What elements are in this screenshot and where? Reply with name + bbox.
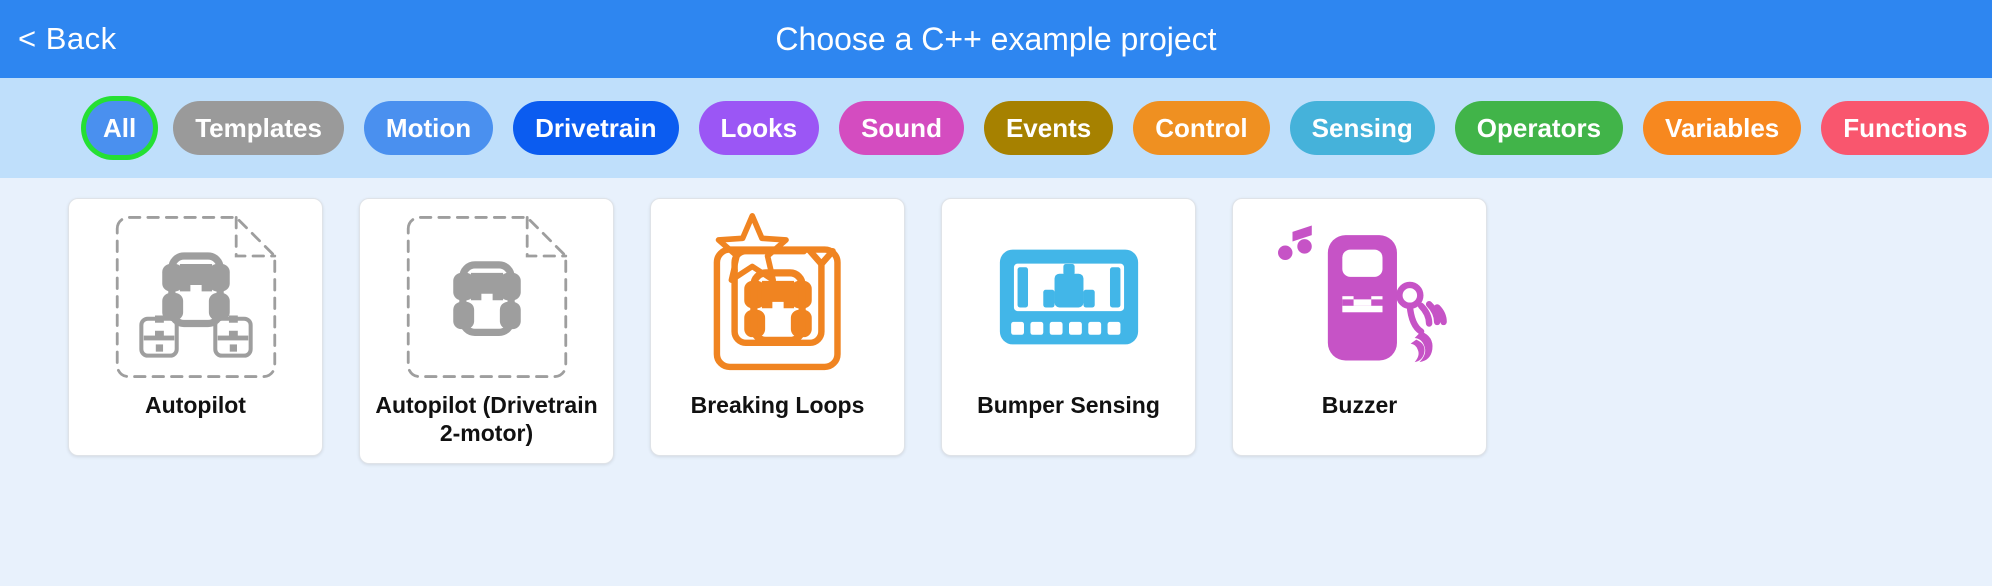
bumper-sensor-icon	[953, 211, 1185, 383]
category-pill-operators[interactable]: Operators	[1455, 101, 1623, 155]
category-pill-sound[interactable]: Sound	[839, 101, 964, 155]
category-pill-drivetrain[interactable]: Drivetrain	[513, 101, 678, 155]
buzzer-icon	[1244, 211, 1476, 383]
robot-two-bumpers-icon	[80, 211, 312, 383]
category-pill-motion[interactable]: Motion	[364, 101, 493, 155]
category-pill-sensing[interactable]: Sensing	[1290, 101, 1435, 155]
loop-star-icon	[662, 211, 894, 383]
project-card[interactable]: Buzzer	[1232, 198, 1487, 456]
app-header: < Back Choose a C++ example project	[0, 0, 1992, 78]
project-card-label: Bumper Sensing	[952, 391, 1185, 419]
project-card[interactable]: Bumper Sensing	[941, 198, 1196, 456]
page-title: Choose a C++ example project	[0, 21, 1992, 58]
project-card-grid: AutopilotAutopilot (Drivetrain 2-motor)B…	[0, 178, 1992, 464]
category-pill-events[interactable]: Events	[984, 101, 1113, 155]
category-pill-looks[interactable]: Looks	[699, 101, 820, 155]
category-pill-all[interactable]: All	[86, 101, 153, 155]
back-button[interactable]: < Back	[18, 21, 117, 57]
project-card-label: Buzzer	[1243, 391, 1476, 419]
project-card[interactable]: Breaking Loops	[650, 198, 905, 456]
category-pill-functions[interactable]: Functions	[1821, 101, 1989, 155]
project-card[interactable]: Autopilot	[68, 198, 323, 456]
category-pill-control[interactable]: Control	[1133, 101, 1269, 155]
project-card[interactable]: Autopilot (Drivetrain 2-motor)	[359, 198, 614, 464]
category-pill-templates[interactable]: Templates	[173, 101, 344, 155]
project-card-label: Autopilot (Drivetrain 2-motor)	[370, 391, 603, 447]
robot-icon	[371, 211, 603, 383]
category-pill-variables[interactable]: Variables	[1643, 101, 1801, 155]
project-card-label: Autopilot	[79, 391, 312, 419]
category-filter-bar: AllTemplatesMotionDrivetrainLooksSoundEv…	[0, 78, 1992, 178]
project-card-label: Breaking Loops	[661, 391, 894, 419]
